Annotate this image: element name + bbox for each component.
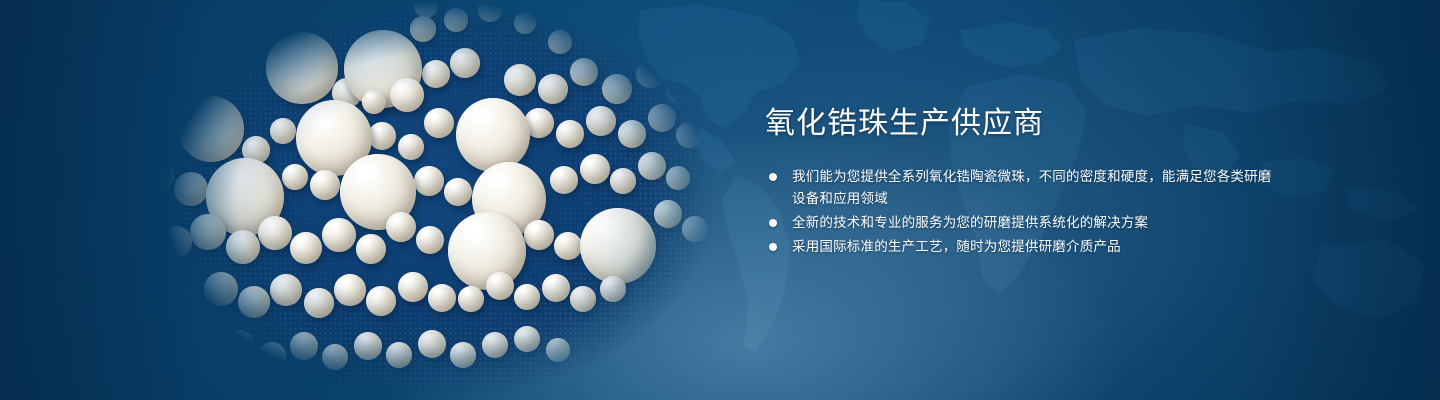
feature-bullet-text: 我们能为您提供全系列氧化锆陶瓷微珠，不同的密度和硬度，能满足您各类研磨设备和应用… xyxy=(792,166,1285,210)
ceramic-bead xyxy=(322,344,348,370)
ceramic-bead xyxy=(418,330,446,358)
ceramic-bead xyxy=(602,74,632,104)
hero-banner: 氧化锆珠生产供应商 我们能为您提供全系列氧化锆陶瓷微珠，不同的密度和硬度，能满足… xyxy=(0,0,1440,400)
ceramic-bead xyxy=(538,74,568,104)
feature-bullet-list: 我们能为您提供全系列氧化锆陶瓷微珠，不同的密度和硬度，能满足您各类研磨设备和应用… xyxy=(765,166,1285,258)
ceramic-bead xyxy=(554,232,582,260)
ceramic-bead xyxy=(174,172,208,206)
ceramic-bead xyxy=(610,168,636,194)
ceramic-bead xyxy=(258,216,292,250)
feature-bullet-text: 全新的技术和专业的服务为您的研磨提供系统化的解决方案 xyxy=(792,212,1285,234)
ceramic-bead xyxy=(138,274,170,306)
ceramic-bead xyxy=(444,8,468,32)
ceramic-bead xyxy=(514,326,540,352)
ceramic-bead xyxy=(556,120,584,148)
ceramic-bead xyxy=(570,58,598,86)
ceramic-bead xyxy=(362,90,386,114)
ceramic-bead xyxy=(504,64,536,96)
product-photo-zirconia-beads xyxy=(118,0,738,400)
ceramic-bead xyxy=(134,156,174,196)
ceramic-bead xyxy=(270,118,296,144)
bullet-dot-icon xyxy=(769,173,777,181)
ceramic-bead xyxy=(266,32,338,104)
ceramic-bead xyxy=(666,78,692,104)
ceramic-bead xyxy=(450,342,476,368)
ceramic-bead xyxy=(486,272,514,300)
ceramic-bead xyxy=(524,220,554,250)
ceramic-bead xyxy=(366,286,396,316)
ceramic-bead xyxy=(238,286,270,318)
ceramic-bead xyxy=(638,152,666,180)
ceramic-bead xyxy=(204,272,238,306)
ceramic-bead xyxy=(456,98,530,172)
ceramic-bead xyxy=(542,274,570,302)
ceramic-bead xyxy=(390,78,424,112)
page-title: 氧化锆珠生产供应商 xyxy=(765,104,1285,144)
ceramic-bead xyxy=(546,338,570,362)
ceramic-bead xyxy=(290,332,318,360)
feature-bullet: 我们能为您提供全系列氧化锆陶瓷微珠，不同的密度和硬度，能满足您各类研磨设备和应用… xyxy=(765,166,1285,210)
ceramic-bead xyxy=(514,12,536,34)
ceramic-bead xyxy=(190,214,226,250)
ceramic-bead xyxy=(126,210,160,244)
ceramic-bead xyxy=(304,288,334,318)
ceramic-bead xyxy=(444,178,472,206)
ceramic-bead xyxy=(172,286,202,316)
ceramic-bead xyxy=(416,226,444,254)
ceramic-bead xyxy=(158,330,188,360)
ceramic-bead xyxy=(258,342,286,370)
ceramic-bead xyxy=(334,274,366,306)
ceramic-bead xyxy=(310,170,340,200)
ceramic-bead xyxy=(226,230,260,264)
ceramic-bead xyxy=(586,106,616,136)
ceramic-bead xyxy=(290,232,322,264)
ceramic-bead xyxy=(458,286,484,312)
ceramic-bead xyxy=(424,108,454,138)
ceramic-bead xyxy=(410,16,436,42)
banner-copy: 氧化锆珠生产供应商 我们能为您提供全系列氧化锆陶瓷微珠，不同的密度和硬度，能满足… xyxy=(765,104,1285,260)
feature-bullet: 采用国际标准的生产工艺，随时为您提供研磨介质产品 xyxy=(765,236,1285,258)
ceramic-bead xyxy=(514,284,540,310)
ceramic-bead xyxy=(160,226,192,258)
ceramic-bead xyxy=(550,166,578,194)
ceramic-bead xyxy=(548,30,572,54)
ceramic-bead xyxy=(414,0,438,18)
ceramic-bead xyxy=(584,4,610,30)
ceramic-bead xyxy=(368,122,396,150)
ceramic-bead xyxy=(570,286,596,312)
ceramic-bead xyxy=(600,276,626,302)
ceramic-bead xyxy=(676,122,702,148)
ceramic-bead xyxy=(386,212,416,242)
ceramic-bead xyxy=(450,48,480,78)
ceramic-bead xyxy=(398,134,424,160)
ceramic-bead xyxy=(428,284,456,312)
ceramic-bead xyxy=(482,332,508,358)
ceramic-bead xyxy=(354,332,382,360)
ceramic-bead xyxy=(270,274,302,306)
ceramic-bead xyxy=(224,330,254,360)
ceramic-bead xyxy=(414,166,444,196)
feature-bullet: 全新的技术和专业的服务为您的研磨提供系统化的解决方案 xyxy=(765,212,1285,234)
ceramic-bead xyxy=(178,96,244,162)
ceramic-bead xyxy=(654,200,682,228)
ceramic-bead xyxy=(616,26,640,50)
ceramic-bead xyxy=(650,10,676,36)
ceramic-bead xyxy=(192,342,220,370)
ceramic-bead xyxy=(282,164,308,190)
ceramic-bead xyxy=(580,154,610,184)
ceramic-bead xyxy=(398,272,428,302)
ceramic-bead xyxy=(618,120,646,148)
ceramic-bead xyxy=(322,218,356,252)
ceramic-bead xyxy=(356,234,386,264)
bullet-dot-icon xyxy=(769,219,777,227)
feature-bullet-text: 采用国际标准的生产工艺，随时为您提供研磨介质产品 xyxy=(792,236,1285,258)
bullet-dot-icon xyxy=(769,243,777,251)
ceramic-bead xyxy=(666,166,690,190)
ceramic-bead xyxy=(478,0,502,22)
ceramic-bead xyxy=(422,60,450,88)
ceramic-bead xyxy=(682,216,708,242)
ceramic-bead xyxy=(648,104,676,132)
ceramic-bead xyxy=(636,60,664,88)
ceramic-bead xyxy=(580,208,656,284)
ceramic-bead xyxy=(386,342,412,368)
bead-cluster xyxy=(118,0,738,400)
